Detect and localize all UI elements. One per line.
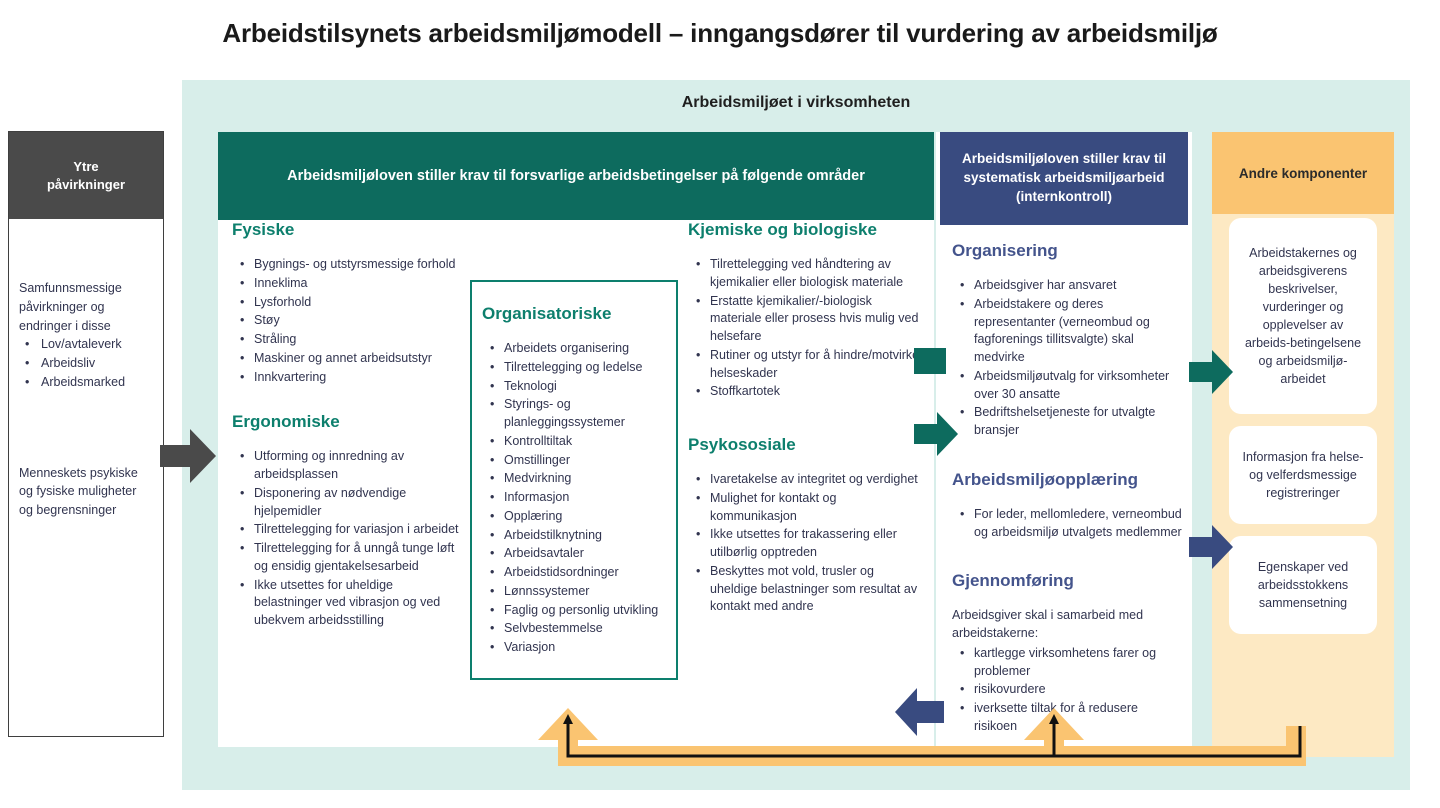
section-title-kjemiske: Kjemiske og biologiske — [688, 220, 920, 240]
section-title-organisering: Organisering — [952, 241, 1182, 261]
list-item: Selvbestemmelse — [504, 620, 662, 638]
list-item: For leder, mellomledere, verneombud og a… — [974, 506, 1182, 542]
section-title-arbeidsmiljoopplaering: Arbeidsmiljøopplæring — [952, 470, 1182, 490]
list-item: Tilrettelegging ved håndtering av kjemik… — [710, 256, 920, 292]
list-item: Styrings- og planleggingssystemer — [504, 396, 662, 432]
navy-right-arrow-to-orange-icon — [1188, 523, 1234, 571]
organisational-box: Organisatoriske Arbeidets organisering T… — [470, 280, 678, 680]
green-right-arrow-to-navy-icon — [913, 410, 959, 458]
list-item: Stoffkartotek — [710, 383, 920, 401]
other-component-chip-3: Egenskaper ved arbeidsstokkens sammenset… — [1229, 536, 1377, 634]
list-item: Arbeidsliv — [39, 354, 153, 373]
list-item: Tilrettelegging og ledelse — [504, 359, 662, 377]
column-physical-ergonomic: Fysiske Bygnings- og utstyrsmessige forh… — [232, 220, 462, 631]
green-right-arrow-to-orange-icon — [1188, 348, 1234, 396]
external-influences-body: Samfunnsmessige påvirkninger og endringe… — [9, 279, 163, 520]
list-psykososiale: Ivaretakelse av integritet og verdighet … — [688, 471, 920, 616]
list-item: Ivaretakelse av integritet og verdighet — [710, 471, 920, 489]
list-item: Arbeidstidsordninger — [504, 564, 662, 582]
list-item: Arbeidsgiver har ansvaret — [974, 277, 1182, 295]
green-card-header: Arbeidsmiljøloven stiller krav til forsv… — [218, 132, 934, 220]
list-arbeidsmiljoopplaering: For leder, mellomledere, verneombud og a… — [952, 506, 1182, 542]
external-influences-header-line1: Ytre — [73, 159, 98, 174]
list-item: Lønnssystemer — [504, 583, 662, 601]
list-item: Arbeidsavtaler — [504, 545, 662, 563]
list-item: Bedriftshelsetjeneste for utvalgte brans… — [974, 404, 1182, 440]
list-item: Stråling — [254, 331, 462, 349]
list-item: Rutiner og utstyr for å hindre/motvirke … — [710, 347, 920, 383]
list-item: Arbeidstilknytning — [504, 527, 662, 545]
section-title-fysiske: Fysiske — [232, 220, 462, 240]
list-item: Tilrettelegging for å unngå tunge løft o… — [254, 540, 462, 576]
list-gjennomforing: kartlegge virksomhetens farer og problem… — [952, 645, 1182, 736]
list-item: iverksette tiltak for å redusere risikoe… — [974, 700, 1182, 736]
list-item: Omstillinger — [504, 452, 662, 470]
external-block-human: Menneskets psykiske og fysiske mulighete… — [19, 464, 153, 520]
list-item: Arbeidsmarked — [39, 373, 153, 392]
list-item: Teknologi — [504, 378, 662, 396]
list-item: kartlegge virksomhetens farer og problem… — [974, 645, 1182, 681]
green-requirements-card: Arbeidsmiljøloven stiller krav til forsv… — [218, 132, 934, 747]
diagram-canvas: Arbeidstilsynets arbeidsmiljømodell – in… — [0, 0, 1440, 808]
list-item: risikovurdere — [974, 681, 1182, 699]
list-item: Støy — [254, 312, 462, 330]
list-fysiske: Bygnings- og utstyrsmessige forhold Inne… — [232, 256, 462, 386]
list-organisering: Arbeidsgiver har ansvaret Arbeidstakere … — [952, 277, 1182, 440]
section-title-gjennomforing: Gjennomføring — [952, 571, 1182, 591]
list-item: Faglig og personlig utvikling — [504, 602, 662, 620]
external-block-societal-intro: Samfunnsmessige påvirkninger og endringe… — [19, 279, 153, 335]
list-item: Beskyttes mot vold, trusler og uheldige … — [710, 563, 920, 616]
list-item: Variasjon — [504, 639, 662, 657]
list-item: Mulighet for kontakt og kommunikasjon — [710, 490, 920, 526]
list-item: Bygnings- og utstyrsmessige forhold — [254, 256, 462, 274]
section-title-organisatoriske: Organisatoriske — [482, 304, 662, 324]
other-component-chip-2: Informasjon fra helse- og velferdsmessig… — [1229, 426, 1377, 524]
orange-card-header: Andre komponenter — [1212, 132, 1394, 214]
list-item: Ikke utsettes for uheldige belastninger … — [254, 577, 462, 630]
green-square-stub-icon — [913, 347, 947, 375]
list-item: Inneklima — [254, 275, 462, 293]
external-influences-header-line2: påvirkninger — [47, 177, 125, 192]
list-item: Utforming og innredning av arbeidsplasse… — [254, 448, 462, 484]
other-component-chip-1: Arbeidstakernes og arbeidsgiverens beskr… — [1229, 218, 1377, 414]
list-item: Maskiner og annet arbeidsutstyr — [254, 350, 462, 368]
list-item: Kontrolltiltak — [504, 433, 662, 451]
grey-right-arrow-icon — [158, 425, 218, 487]
list-organisatoriske: Arbeidets organisering Tilrettelegging o… — [482, 340, 662, 657]
section-title-psykososiale: Psykososiale — [688, 435, 920, 455]
other-components-card: Andre komponenter Arbeidstakernes og arb… — [1212, 132, 1394, 757]
navy-card-header: Arbeidsmiljøloven stiller krav til syste… — [940, 132, 1188, 225]
list-item: Arbeidsmiljøutvalg for virksomheter over… — [974, 368, 1182, 404]
list-item: Informasjon — [504, 489, 662, 507]
navy-card-body: Organisering Arbeidsgiver har ansvaret A… — [952, 241, 1182, 737]
list-item: Medvirkning — [504, 470, 662, 488]
list-item: Erstatte kjemikalier/-biologisk material… — [710, 293, 920, 346]
section-title-ergonomiske: Ergonomiske — [232, 412, 462, 432]
navy-left-arrow-to-green-icon — [893, 686, 945, 738]
list-item: Disponering av nødvendige hjelpemidler — [254, 485, 462, 521]
list-item: Lysforhold — [254, 294, 462, 312]
list-item: Innkvartering — [254, 369, 462, 387]
page-title: Arbeidstilsynets arbeidsmiljømodell – in… — [0, 18, 1440, 49]
list-ergonomiske: Utforming og innredning av arbeidsplasse… — [232, 448, 462, 630]
external-block-societal: Samfunnsmessige påvirkninger og endringe… — [19, 279, 153, 392]
list-item: Lov/avtaleverk — [39, 335, 153, 354]
list-item: Tilrettelegging for variasjon i arbeidet — [254, 521, 462, 539]
list-item: Arbeidets organisering — [504, 340, 662, 358]
list-kjemiske: Tilrettelegging ved håndtering av kjemik… — [688, 256, 920, 401]
column-chemical-psychosocial: Kjemiske og biologiske Tilrettelegging v… — [688, 220, 920, 617]
external-influences-header: Ytre påvirkninger — [9, 132, 163, 219]
gjennomforing-intro: Arbeidsgiver skal i samarbeid med arbeid… — [952, 607, 1182, 643]
list-item: Opplæring — [504, 508, 662, 526]
work-environment-container: Arbeidsmiljøet i virksomheten Arbeidsmil… — [182, 80, 1410, 790]
external-influences-box: Ytre påvirkninger Samfunnsmessige påvirk… — [8, 131, 164, 737]
work-environment-container-label: Arbeidsmiljøet i virksomheten — [182, 94, 1410, 112]
list-item: Arbeidstakere og deres representanter (v… — [974, 296, 1182, 367]
list-item: Ikke utsettes for trakassering eller uti… — [710, 526, 920, 562]
external-block-societal-list: Lov/avtaleverk Arbeidsliv Arbeidsmarked — [19, 335, 153, 391]
navy-internal-control-card: Arbeidsmiljøloven stiller krav til syste… — [936, 132, 1192, 747]
